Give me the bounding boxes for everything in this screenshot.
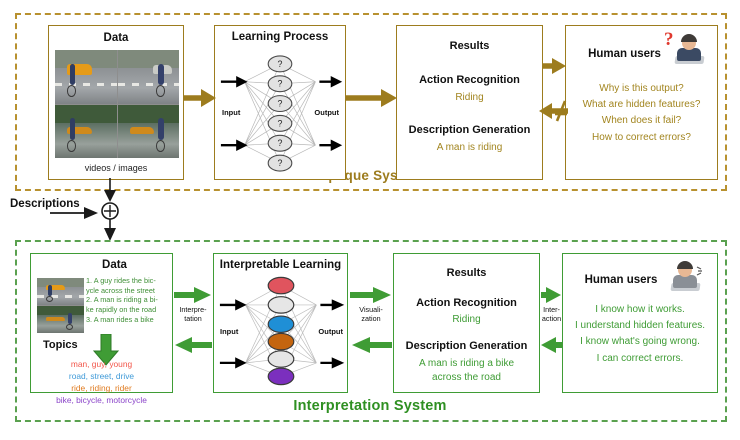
- opaque-question-1: Why is this output?: [568, 81, 715, 97]
- opaque-description-generation-value: A man is riding: [397, 142, 542, 153]
- opaque-human-users-panel: Human users ? Why is this output? What a…: [565, 25, 718, 180]
- arrow-data-to-learning-bottom: [173, 285, 213, 305]
- interp-topics-label: Topics: [43, 339, 78, 351]
- opaque-action-recognition-head: Action Recognition: [397, 74, 542, 86]
- interp-data-thumbnail: [37, 278, 84, 333]
- learning-process-title: Learning Process: [215, 31, 345, 43]
- opaque-input-label: Input: [222, 108, 240, 117]
- opaque-description-generation-head: Description Generation: [397, 124, 542, 136]
- descriptions-label: Descriptions: [10, 198, 80, 210]
- arrow-results-to-human-top: [541, 56, 568, 76]
- topic-line-3: ride, riding, rider: [35, 383, 168, 395]
- opaque-data-images: [55, 50, 179, 158]
- interp-human-statements: I know how it works. I understand hidden…: [565, 302, 715, 367]
- interp-input-label: Input: [220, 327, 238, 336]
- opaque-data-panel: Data videos / images: [48, 25, 184, 180]
- interp-topic-lines: man, guy, young road, street, drive ride…: [35, 359, 168, 407]
- interp-description-list: 1. A guy rides the bic- ycle across the …: [86, 276, 172, 325]
- arrow-learning-to-results-bottom: [349, 285, 393, 305]
- interp-statement-1: I know how it works.: [565, 302, 715, 318]
- photo-cyclist-2: [118, 50, 180, 104]
- description-line-2: ycle across the street: [86, 286, 172, 296]
- description-line-3: 2. A man is riding a bi-: [86, 295, 172, 305]
- connector-label-interpretation: Interpre- tation: [174, 306, 212, 323]
- topic-line-4: bike, bicycle, motorcycle: [35, 395, 168, 407]
- spark-icon: [696, 265, 706, 277]
- opaque-data-caption: videos / images: [49, 163, 183, 173]
- opaque-results-title: Results: [397, 40, 542, 52]
- thumb-photo-2: [37, 306, 84, 333]
- description-line-4: ke rapidly on the road: [86, 305, 172, 315]
- interp-description-generation-head: Description Generation: [394, 340, 539, 352]
- opaque-question-3: When does it fail?: [568, 113, 715, 129]
- description-line-1: 1. A guy rides the bic-: [86, 276, 172, 286]
- interp-human-users-panel: Human users I know how it works. I under…: [562, 253, 718, 393]
- photo-cyclist-4: [118, 105, 180, 159]
- interp-statement-4: I can correct errors.: [565, 351, 715, 367]
- arrow-data-to-learning-top: [182, 85, 218, 111]
- description-line-5: 3. A man rides a bike: [86, 315, 172, 325]
- opaque-question-2: What are hidden features?: [568, 97, 715, 113]
- arrow-results-to-learning-bottom: [349, 335, 393, 355]
- interp-statement-3: I know what's going wrong.: [565, 334, 715, 350]
- opaque-human-questions: Why is this output? What are hidden feat…: [568, 81, 715, 146]
- svg-text:?: ?: [278, 79, 283, 89]
- opaque-data-title: Data: [49, 32, 183, 44]
- interp-data-panel: Data 1. A guy rides the bic- ycle across…: [30, 253, 173, 393]
- opaque-question-4: How to correct errors?: [568, 130, 715, 146]
- satisfied-user-avatar: [669, 259, 703, 293]
- interp-data-title: Data: [31, 259, 172, 271]
- diagram-canvas: Opaque System Data videos / images: [0, 0, 740, 440]
- arrow-human-to-results-blocked: [538, 96, 570, 126]
- photo-cyclist-1: [55, 50, 117, 104]
- interp-action-recognition-value: Riding: [394, 314, 539, 325]
- opaque-results-panel: Results Action Recognition Riding Descri…: [396, 25, 543, 180]
- svg-text:?: ?: [278, 138, 283, 148]
- interpretable-learning-panel: Interpretable Learning: [213, 253, 348, 393]
- svg-text:?: ?: [278, 59, 283, 69]
- arrow-human-to-results-bottom: [540, 335, 563, 355]
- arrow-results-to-human-bottom: [540, 285, 563, 305]
- opaque-output-label: Output: [314, 108, 339, 117]
- topic-line-2: road, street, drive: [35, 371, 168, 383]
- interp-output-label: Output: [318, 327, 343, 336]
- interp-statement-2: I understand hidden features.: [565, 318, 715, 334]
- learning-process-panel: Learning Process ???: [214, 25, 346, 180]
- confused-user-avatar: ?: [673, 32, 707, 66]
- question-mark-icon: ?: [664, 29, 674, 51]
- arrow-learning-to-data-bottom: [173, 335, 213, 355]
- interp-results-panel: Results Action Recognition Riding Descri…: [393, 253, 540, 393]
- connector-label-interaction: Inter- action: [538, 306, 565, 323]
- interp-action-recognition-head: Action Recognition: [394, 297, 539, 309]
- svg-text:?: ?: [278, 99, 283, 109]
- svg-text:?: ?: [278, 158, 283, 168]
- photo-cyclist-3: [55, 105, 117, 159]
- thumb-photo-1: [37, 278, 84, 305]
- opaque-action-recognition-value: Riding: [397, 92, 542, 103]
- topic-line-1: man, guy, young: [35, 359, 168, 371]
- svg-text:?: ?: [278, 118, 283, 128]
- interp-description-generation-value: A man is riding a bike across the road: [394, 357, 539, 384]
- interpretable-learning-title: Interpretable Learning: [214, 259, 347, 271]
- interp-results-title: Results: [394, 267, 539, 279]
- arrow-learning-to-results-top: [344, 85, 399, 111]
- connector-label-visualization: Visuali- zation: [350, 306, 392, 323]
